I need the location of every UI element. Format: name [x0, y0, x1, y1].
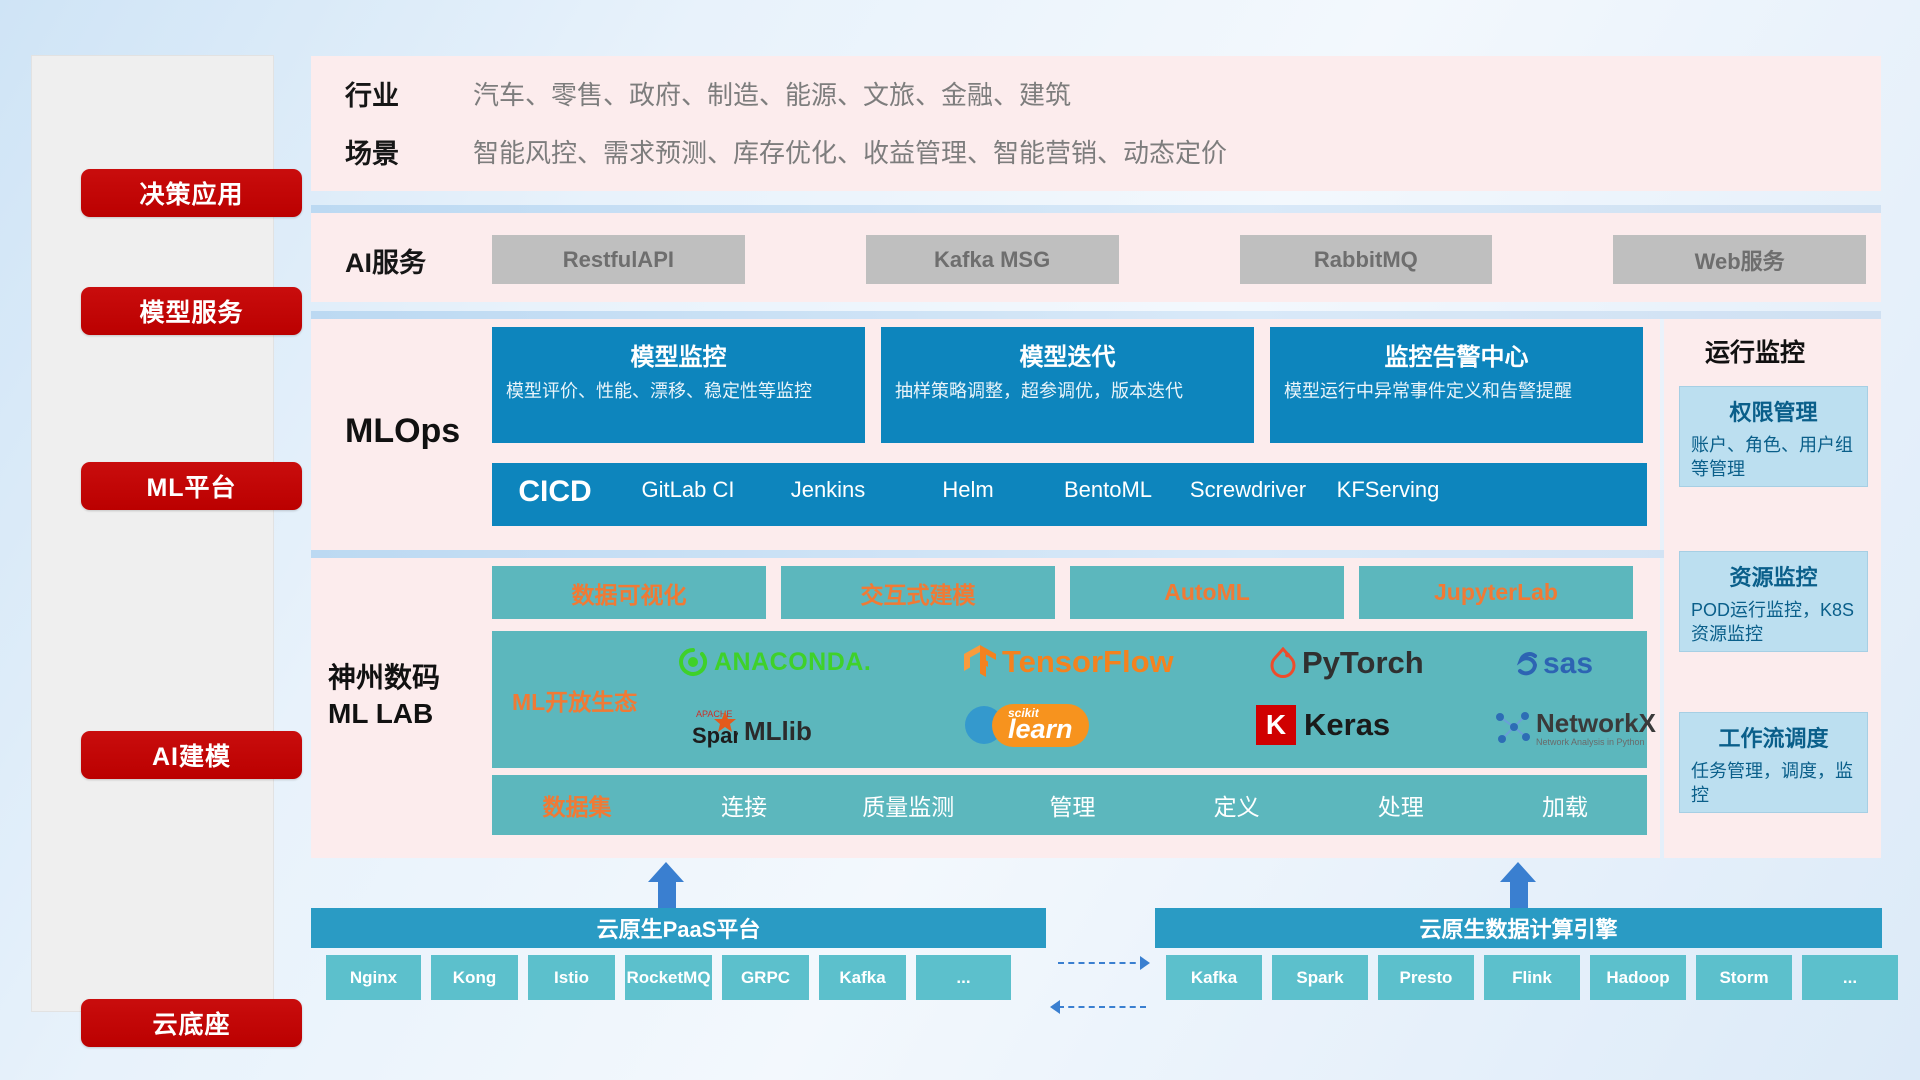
dataset-item-quality[interactable]: 质量监测 — [826, 788, 990, 822]
card-desc: POD运行监控，K8S资源监控 — [1691, 598, 1856, 647]
band-accent-model-service — [311, 205, 1881, 213]
dataset-row: 数据集 连接 质量监测 管理 定义 处理 加载 — [492, 775, 1647, 835]
ai-service-label: AI服务 — [345, 241, 426, 280]
anaconda-icon — [678, 647, 708, 677]
rail-item-cloud-foundation[interactable]: 云底座 — [81, 999, 302, 1047]
dataset-item-process[interactable]: 处理 — [1319, 788, 1483, 822]
tensorflow-icon — [962, 643, 998, 681]
mllab-label-line2: ML LAB — [328, 696, 440, 732]
industry-row: 行业 汽车、零售、政府、制造、能源、文旅、金融、建筑 — [345, 74, 1071, 113]
sas-icon — [1512, 649, 1542, 679]
scenario-value: 智能风控、需求预测、库存优化、收益管理、智能营销、动态定价 — [473, 133, 1227, 170]
card-title: 资源监控 — [1691, 560, 1856, 592]
industry-label: 行业 — [345, 74, 473, 113]
pytorch-logo: PyTorch — [1268, 645, 1424, 681]
chip-rocketmq[interactable]: RocketMQ — [625, 955, 712, 1000]
mllab-chip-data-visualization[interactable]: 数据可视化 — [492, 566, 766, 619]
dataset-item-connect[interactable]: 连接 — [662, 788, 826, 822]
ai-service-kafka-msg[interactable]: Kafka MSG — [866, 235, 1119, 284]
mlops-cards: 模型监控 模型评价、性能、漂移、稳定性等监控 模型迭代 抽样策略调整，超参调优，… — [492, 327, 1643, 443]
card-title: 模型迭代 — [895, 337, 1240, 372]
sas-wordmark: sas — [1543, 647, 1593, 681]
connector-dashed-top — [1058, 962, 1146, 964]
cloud-paas-chips: Nginx Kong Istio RocketMQ GRPC Kafka ... — [326, 955, 1011, 1000]
cicd-bar: CICD GitLab CI Jenkins Helm BentoML Scre… — [492, 463, 1647, 526]
dataset-item-manage[interactable]: 管理 — [990, 788, 1154, 822]
chip-more-right[interactable]: ... — [1802, 955, 1898, 1000]
dataset-item-define[interactable]: 定义 — [1155, 788, 1319, 822]
pytorch-icon — [1268, 647, 1298, 679]
cicd-tool-kfserving[interactable]: KFServing — [1318, 475, 1458, 505]
cicd-tool-bentoml[interactable]: BentoML — [1038, 475, 1178, 505]
chip-storm[interactable]: Storm — [1696, 955, 1792, 1000]
networkx-tagline: Network Analysis in Python — [1536, 737, 1656, 747]
ml-open-ecosystem-label: ML开放生态 — [512, 683, 637, 717]
card-desc: 任务管理，调度，监控 — [1691, 759, 1856, 808]
mllab-chip-row: 数据可视化 交互式建模 AutoML JupyterLab — [492, 566, 1633, 619]
chip-more-left[interactable]: ... — [916, 955, 1011, 1000]
cicd-tool-jenkins[interactable]: Jenkins — [758, 475, 898, 505]
card-desc: 模型运行中异常事件定义和告警提醒 — [1284, 380, 1629, 404]
cloud-data-engine-bar[interactable]: 云原生数据计算引擎 — [1155, 908, 1882, 948]
mllab-chip-jupyterlab[interactable]: JupyterLab — [1359, 566, 1633, 619]
cicd-title: CICD — [492, 475, 618, 509]
ai-service-row: RestfulAPI Kafka MSG RabbitMQ Web服务 — [492, 235, 1866, 284]
rail-item-ml-platform[interactable]: ML平台 — [81, 462, 302, 510]
monitor-card-resource[interactable]: 资源监控 POD运行监控，K8S资源监控 — [1679, 551, 1868, 652]
ai-service-restfulapi[interactable]: RestfulAPI — [492, 235, 745, 284]
chip-kong[interactable]: Kong — [431, 955, 518, 1000]
chip-kafka-left[interactable]: Kafka — [819, 955, 906, 1000]
cicd-tool-screwdriver[interactable]: Screwdriver — [1178, 475, 1318, 505]
spark-icon: APACHE Spark — [692, 703, 738, 749]
mlops-card-alert-center[interactable]: 监控告警中心 模型运行中异常事件定义和告警提醒 — [1270, 327, 1643, 443]
cicd-tool-gitlab-ci[interactable]: GitLab CI — [618, 475, 758, 505]
keras-icon: K — [1256, 705, 1296, 745]
scikit-learn-wordmark: learn — [1008, 714, 1073, 745]
card-desc: 账户、角色、用户组等管理 — [1691, 433, 1856, 482]
chip-flink[interactable]: Flink — [1484, 955, 1580, 1000]
chip-istio[interactable]: Istio — [528, 955, 615, 1000]
connector-arrow-left — [1050, 1000, 1060, 1014]
rail-item-decision-application[interactable]: 决策应用 — [81, 169, 302, 217]
card-title: 模型监控 — [506, 337, 851, 372]
anaconda-logo: ANACONDA. — [678, 647, 871, 677]
dataset-title: 数据集 — [492, 788, 662, 822]
cloud-data-engine-chips: Kafka Spark Presto Flink Hadoop Storm ..… — [1166, 955, 1898, 1000]
monitor-card-permission[interactable]: 权限管理 账户、角色、用户组等管理 — [1679, 386, 1868, 487]
scikit-learn-logo: scikit learn — [962, 703, 1089, 747]
scenario-row: 场景 智能风控、需求预测、库存优化、收益管理、智能营销、动态定价 — [345, 132, 1227, 171]
left-rail: 决策应用 模型服务 ML平台 AI建模 云底座 — [31, 55, 274, 1012]
scenario-label: 场景 — [345, 132, 473, 171]
ai-service-web[interactable]: Web服务 — [1613, 235, 1866, 284]
networkx-icon — [1492, 707, 1532, 747]
rail-item-model-service[interactable]: 模型服务 — [81, 287, 302, 335]
anaconda-wordmark: ANACONDA. — [714, 648, 871, 677]
card-title: 权限管理 — [1691, 395, 1856, 427]
tensorflow-wordmark: TensorFlow — [1002, 644, 1174, 680]
svg-text:Spark: Spark — [692, 723, 738, 748]
card-desc: 模型评价、性能、漂移、稳定性等监控 — [506, 380, 851, 404]
mllab-label: 神州数码 ML LAB — [328, 660, 440, 733]
connector-arrow-right — [1140, 956, 1150, 970]
chip-spark[interactable]: Spark — [1272, 955, 1368, 1000]
chip-presto[interactable]: Presto — [1378, 955, 1474, 1000]
tensorflow-logo: TensorFlow — [962, 643, 1174, 681]
ai-service-rabbitmq[interactable]: RabbitMQ — [1240, 235, 1493, 284]
mllab-chip-automl[interactable]: AutoML — [1070, 566, 1344, 619]
keras-logo: K Keras — [1256, 705, 1390, 745]
sas-logo: sas — [1512, 647, 1593, 681]
card-desc: 抽样策略调整，超参调优，版本迭代 — [895, 380, 1240, 404]
mlops-card-model-monitoring[interactable]: 模型监控 模型评价、性能、漂移、稳定性等监控 — [492, 327, 865, 443]
card-title: 监控告警中心 — [1284, 337, 1629, 372]
networkx-wordmark: NetworkX — [1536, 708, 1656, 739]
pytorch-wordmark: PyTorch — [1302, 645, 1424, 681]
cloud-paas-bar[interactable]: 云原生PaaS平台 — [311, 908, 1046, 948]
card-title: 工作流调度 — [1691, 721, 1856, 753]
mllib-wordmark: MLlib — [744, 716, 812, 747]
mlops-card-model-iteration[interactable]: 模型迭代 抽样策略调整，超参调优，版本迭代 — [881, 327, 1254, 443]
architecture-diagram: 决策应用 模型服务 ML平台 AI建模 云底座 行业 汽车、零售、政府、制造、能… — [0, 0, 1920, 1080]
ml-open-ecosystem: ML开放生态 ANACONDA. TensorFlow — [492, 631, 1647, 768]
mlops-label: MLOps — [345, 412, 460, 451]
runtime-monitor-title: 运行监控 — [1705, 333, 1805, 369]
networkx-logo: NetworkX Network Analysis in Python — [1492, 707, 1656, 747]
logo-grid: ANACONDA. TensorFlow PyTorch — [672, 637, 1632, 763]
band-accent-ml-platform — [311, 311, 1881, 319]
band-accent-ai-modeling — [311, 550, 1881, 558]
industry-value: 汽车、零售、政府、制造、能源、文旅、金融、建筑 — [473, 75, 1071, 112]
monitor-card-workflow[interactable]: 工作流调度 任务管理，调度，监控 — [1679, 712, 1868, 813]
mllab-label-line1: 神州数码 — [328, 660, 440, 696]
connector-dashed-bottom — [1058, 1006, 1146, 1008]
dataset-item-load[interactable]: 加载 — [1483, 788, 1647, 822]
mllab-chip-interactive-modeling[interactable]: 交互式建模 — [781, 566, 1055, 619]
spark-mllib-logo: APACHE Spark MLlib — [692, 703, 812, 749]
chip-grpc[interactable]: GRPC — [722, 955, 809, 1000]
cicd-tool-helm[interactable]: Helm — [898, 475, 1038, 505]
chip-nginx[interactable]: Nginx — [326, 955, 421, 1000]
rail-item-ai-modeling[interactable]: AI建模 — [81, 731, 302, 779]
chip-hadoop[interactable]: Hadoop — [1590, 955, 1686, 1000]
keras-wordmark: Keras — [1304, 707, 1390, 743]
chip-kafka-right[interactable]: Kafka — [1166, 955, 1262, 1000]
